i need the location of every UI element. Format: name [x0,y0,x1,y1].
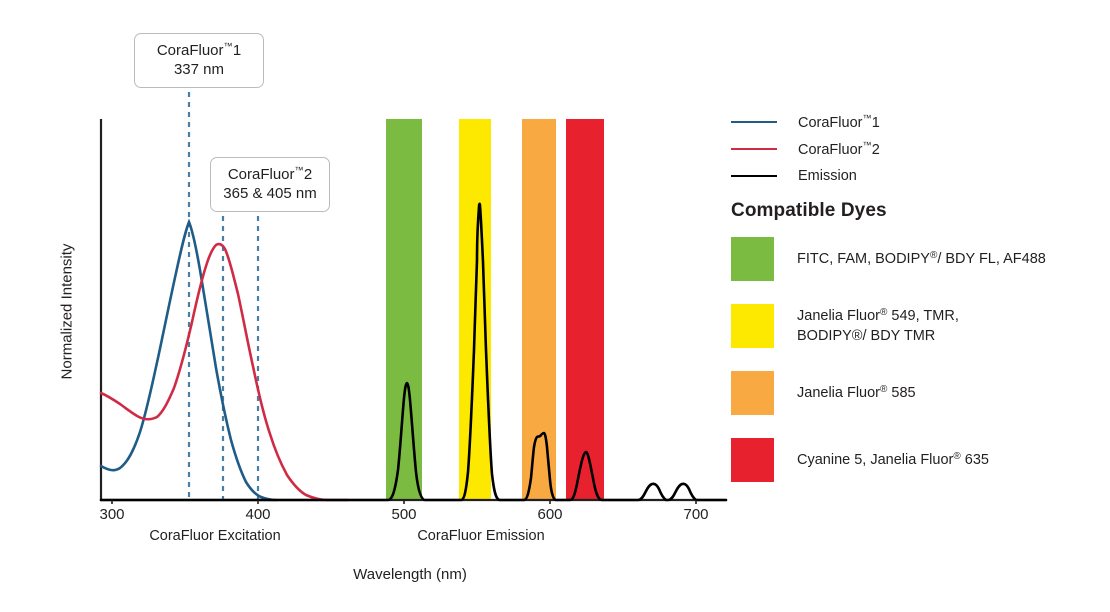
dye-label-green: FITC, FAM, BODIPY®/ BDY FL, AF488 [797,249,1046,269]
series-legend: CoraFluor™1 CoraFluor™2 Emission [731,108,1101,189]
dye-item-red: Cyanine 5, Janelia Fluor® 635 [731,435,1103,485]
dye-swatch-red [731,438,774,482]
y-axis-label: Normalized Intensity [59,222,76,402]
dye-swatch-green [731,237,774,281]
callout-1-line2: 337 nm [145,60,253,79]
x-tick-label-700: 700 [666,506,726,523]
legend-label-corafluor-1: CoraFluor™1 [798,113,880,131]
x-tick-label-300: 300 [82,506,142,523]
callout-2-line2: 365 & 405 nm [221,184,319,203]
legend-label-emission: Emission [798,168,857,184]
dye-item-orange: Janelia Fluor® 585 [731,368,1103,418]
excitation-marker-lines [189,92,258,500]
compatible-dyes-list: FITC, FAM, BODIPY®/ BDY FL, AF488 Janeli… [731,234,1103,502]
trademark-symbol: ™ [862,140,871,150]
trademark-symbol: ™ [224,41,233,51]
band-orange [522,119,556,500]
x-tick-label-500: 500 [374,506,434,523]
caption-corafluor-excitation: CoraFluor Excitation [120,528,310,544]
compatible-dyes-title: Compatible Dyes [731,200,887,222]
x-tick-label-400: 400 [228,506,288,523]
callout-corafluor-1: CoraFluor™1 337 nm [134,33,264,88]
curve-corafluor-2 [101,244,348,500]
x-axis-label: Wavelength (nm) [260,566,560,583]
legend-line-swatch-black [731,175,777,177]
trademark-symbol: ™ [295,165,304,175]
dye-label-red: Cyanine 5, Janelia Fluor® 635 [797,450,989,470]
fluorescence-spectra-figure: CoraFluor™1 337 nm CoraFluor™2 365 & 405… [0,0,1110,612]
dye-swatch-yellow [731,304,774,348]
caption-corafluor-emission: CoraFluor Emission [395,528,567,544]
legend-item-emission: Emission [731,162,1101,189]
trademark-symbol: ™ [862,113,871,123]
band-red [566,119,604,500]
dye-swatch-orange [731,371,774,415]
emission-bands [386,119,604,500]
legend-line-swatch-blue [731,121,777,123]
x-tick-label-600: 600 [520,506,580,523]
dye-label-orange: Janelia Fluor® 585 [797,383,916,403]
legend-label-corafluor-2: CoraFluor™2 [798,140,880,158]
dye-item-green: FITC, FAM, BODIPY®/ BDY FL, AF488 [731,234,1103,284]
callout-corafluor-2: CoraFluor™2 365 & 405 nm [210,157,330,212]
callout-1-line1: CoraFluor™1 [157,42,241,59]
dye-label-yellow-line2: BODIPY®/ BDY TMR [797,328,935,344]
dye-label-yellow: Janelia Fluor® 549, TMR,BODIPY®/ BDY TMR [797,306,959,345]
registered-symbol: ® [953,451,960,462]
legend-item-corafluor-1: CoraFluor™1 [731,108,1101,135]
legend-item-corafluor-2: CoraFluor™2 [731,135,1101,162]
callout-2-line1: CoraFluor™2 [228,166,312,183]
legend-line-swatch-red [731,148,777,150]
band-green [386,119,422,500]
dye-item-yellow: Janelia Fluor® 549, TMR,BODIPY®/ BDY TMR [731,301,1103,351]
